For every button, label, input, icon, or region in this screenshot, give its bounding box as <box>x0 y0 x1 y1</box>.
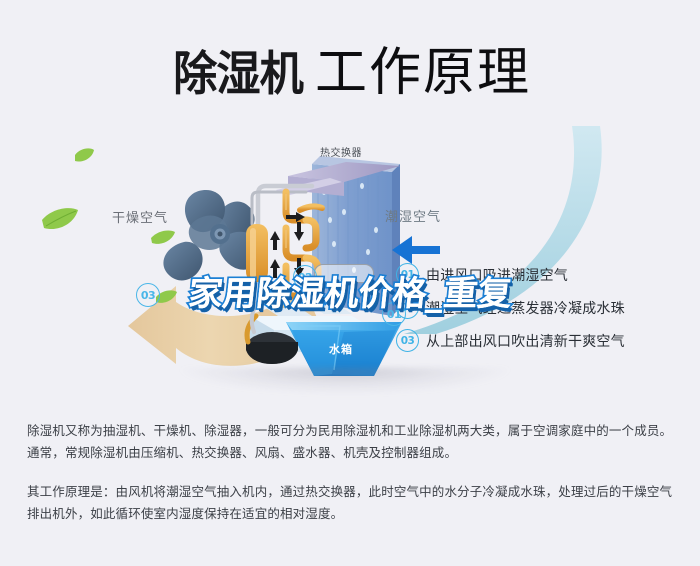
refrigerant-circuit <box>246 186 322 306</box>
legend-text-02: 潮湿空气经过蒸发器冷凝成水珠 <box>426 298 625 318</box>
legend-text-03: 从上部出风口吹出清新干爽空气 <box>426 331 625 351</box>
legend-item: 01 由进风口吸进潮湿空气 <box>396 258 692 291</box>
diagram-badge-03: 03 <box>136 283 160 307</box>
heat-exchanger-callout <box>314 264 374 283</box>
page-root: 除湿机工作原理 <box>0 0 700 566</box>
legend-badge-03: 03 <box>396 329 419 352</box>
diagram-badge-02: 02 <box>293 265 317 289</box>
paragraph-1: 除湿机又称为抽湿机、干燥机、除湿器，一般可分为民用除湿机和工业除湿机两大类，属于… <box>27 420 677 464</box>
diagram-legend: 01 由进风口吸进潮湿空气 02 潮湿空气经过蒸发器冷凝成水珠 03 从上部出风… <box>396 258 692 357</box>
label-heat-exchanger: 热交换器 <box>320 149 362 159</box>
page-title: 除湿机工作原理 <box>0 30 700 105</box>
legend-text-01: 由进风口吸进潮湿空气 <box>426 265 568 285</box>
label-humid-air: 潮湿空气 <box>385 211 441 224</box>
legend-badge-01: 01 <box>396 263 419 286</box>
page-title-primary: 除湿机 <box>173 35 303 104</box>
label-water-tank: 水箱 <box>329 344 353 355</box>
label-dry-air: 干燥空气 <box>112 212 168 225</box>
paragraph-2: 其工作原理是：由风机将潮湿空气抽入机内，通过热交换器，此时空气中的水分子冷凝成水… <box>27 481 677 525</box>
legend-item: 02 潮湿空气经过蒸发器冷凝成水珠 <box>396 291 692 324</box>
page-title-secondary: 工作原理 <box>315 30 531 105</box>
legend-item: 03 从上部出风口吹出清新干爽空气 <box>396 324 692 357</box>
legend-badge-02: 02 <box>396 296 419 319</box>
article-body: 除湿机又称为抽湿机、干燥机、除湿器，一般可分为民用除湿机和工业除湿机两大类，属于… <box>27 420 677 525</box>
